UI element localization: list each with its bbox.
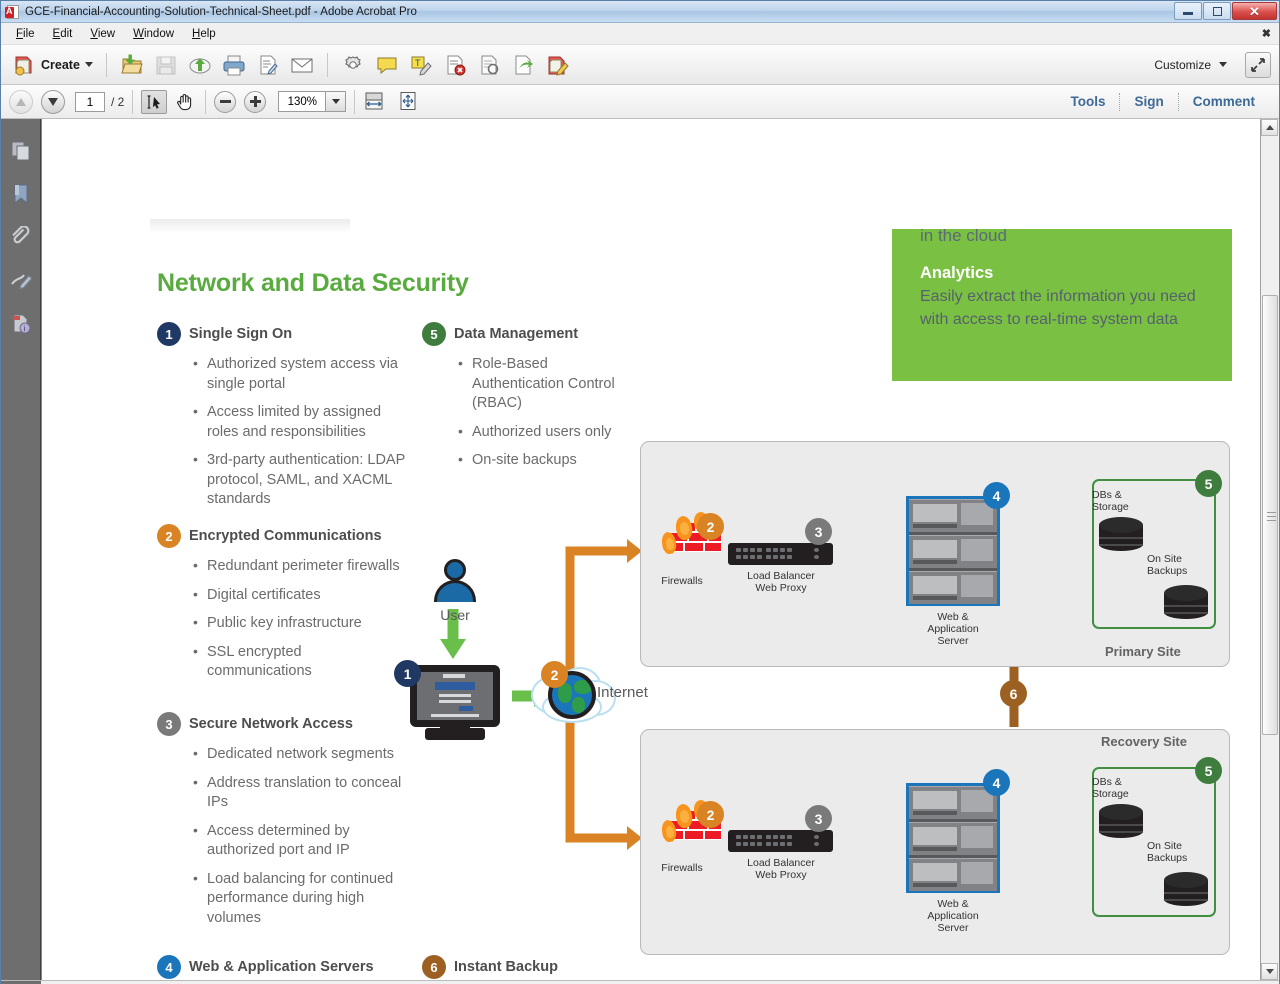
maximize-button[interactable] [1203,2,1231,20]
primary-site-panel [640,441,1230,667]
select-text-icon [145,93,163,111]
badge-loadbalancer-recovery: 3 [805,805,832,832]
list-item: Access determined by authorized port and… [193,822,407,861]
list-item: Authorized system access via single port… [193,355,407,394]
page-title: Network and Data Security [157,269,469,298]
list-item: Digital certificates [193,586,407,606]
clipped-text-row [150,219,350,233]
pdf-page: Network and Data Security 1 Single Sign … [42,119,1243,980]
bookmarks-icon [10,183,32,205]
previous-page-button[interactable] [9,90,33,114]
hand-tool-button[interactable] [171,90,197,114]
db-label-1: DBs & [1092,776,1122,788]
vertical-scrollbar[interactable] [1260,119,1279,980]
list-item: Address translation to conceal IPs [193,774,407,813]
analytics-callout: in the cloud Analytics Easily extract th… [892,229,1232,381]
workstation-monitor-icon [410,665,500,727]
recovery-site-label: Recovery Site [1101,734,1187,749]
create-button[interactable]: Create [7,50,98,80]
load-balancer-label-1: Load Balancer [747,857,815,869]
section-single-sign-on: 1 Single Sign On Authorized system acces… [157,322,407,519]
badge-loadbalancer-primary: 3 [805,518,832,545]
protect-document-button[interactable] [472,50,506,80]
toolbar-divider [106,53,107,77]
backup-label-1: On Site [1147,553,1182,565]
firewall-icon-primary [662,514,722,562]
section-secure-network-access: 3 Secure Network Access Dedicated networ… [157,712,407,937]
list-item: SSL encrypted communications [193,643,407,682]
rail-footer [1,981,41,984]
section-badge-2: 2 [157,524,181,548]
pdf-document-canvas[interactable]: Network and Data Security 1 Single Sign … [41,119,1260,980]
server-label-1: Web & [937,611,968,623]
acrobat-window: GCE-Financial-Accounting-Solution-Techni… [0,0,1280,984]
expand-arrows-icon [1250,57,1266,73]
minimize-button[interactable] [1174,2,1202,20]
cloud-shape [558,667,602,709]
backup-label-2: Backups [1147,565,1187,577]
fit-page-button[interactable] [397,90,421,114]
callout-body: Easily extract the information you need … [920,285,1204,331]
print-icon [222,53,246,77]
hand-tool-icon [175,92,194,111]
title-bar: GCE-Financial-Accounting-Solution-Techni… [1,1,1279,23]
workspace: i Network and Data Security 1 Single Sig… [1,119,1279,980]
menu-file[interactable]: File [7,26,44,42]
zoom-dropdown-button[interactable] [326,91,346,112]
backup-label-2: Backups [1147,852,1187,864]
zoom-out-button[interactable] [214,91,236,113]
firewalls-label-primary: Firewalls [647,575,717,587]
user-label: User [417,609,493,621]
list-item: 3rd-party authentication: LDAP protocol,… [193,451,407,510]
create-pdf-icon [12,53,36,77]
chevron-down-icon[interactable] [85,62,93,67]
page-number-input[interactable]: 1 [75,92,105,112]
menu-window[interactable]: Window [124,26,183,42]
comment-button[interactable] [370,50,404,80]
server-label-2: Application [927,910,978,922]
server-stack-primary [906,496,1000,606]
menu-help[interactable]: Help [183,26,225,42]
badge-server-primary: 4 [983,482,1010,509]
main-toolbar: Create [1,45,1279,85]
load-balancer-label-2: Web Proxy [755,869,806,881]
page-total-label: / 2 [111,95,124,109]
edit-pdf-icon [545,53,569,77]
fit-page-icon [397,90,419,112]
page-thumbnails-button[interactable] [1,129,41,172]
upload-cloud-button[interactable] [183,50,217,80]
signatures-icon [10,269,32,291]
toolbar-divider-2 [327,53,328,77]
sign-document-button[interactable] [251,50,285,80]
section-instant-backup: 6 Instant Backup Real-time data syncing … [422,955,637,980]
load-balancer-label-2: Web Proxy [755,582,806,594]
db-label-1: DBs & [1092,489,1122,501]
acrobat-app-icon [5,4,21,20]
open-file-icon [120,53,144,77]
server-stack-recovery [906,783,1000,893]
fit-width-button[interactable] [363,90,387,114]
section-title: Web & Application Servers [189,959,374,975]
attachments-button[interactable] [1,215,41,258]
comment-bubble-icon [375,53,399,77]
primary-db-group-box [1092,479,1216,629]
cloud-shape [531,675,579,715]
section-bullets: Redundant perimeter firewalls Digital ce… [193,557,407,682]
section-badge-4: 4 [157,955,181,979]
section-bullets: Authorized system access via single port… [193,355,407,510]
section-title: Encrypted Communications [189,528,382,544]
recovery-db-group-box [1092,767,1216,917]
close-button[interactable]: ✕ [1232,2,1277,20]
list-item: Authorized users only [458,423,622,443]
expand-toolbar-button[interactable] [1245,52,1271,78]
backup-label-1: On Site [1147,840,1182,852]
export-pdf-button[interactable] [506,50,540,80]
print-button[interactable] [217,50,251,80]
section-bullets: Dedicated network segments Address trans… [193,745,407,928]
server-label-3: Server [938,922,969,934]
zoom-in-button[interactable] [244,91,266,113]
db-label-2: Storage [1092,501,1129,513]
page-navigation-toolbar: 1 / 2 130% [1,85,1279,119]
load-balancer-icon-primary [728,543,833,565]
zoom-divider [205,90,206,114]
window-title: GCE-Financial-Accounting-Solution-Techni… [25,6,417,18]
window-controls: ✕ [1174,2,1277,20]
email-icon [290,53,314,77]
svg-text:T: T [415,58,421,68]
customize-menu[interactable]: Customize [1154,58,1227,72]
server-label-3: Server [938,635,969,647]
menu-view[interactable]: View [81,26,124,42]
customize-label: Customize [1154,58,1211,72]
nav-divider [132,90,133,114]
tools-link[interactable]: Tools [1056,94,1119,109]
globe-icon [548,671,596,719]
chevron-down-icon[interactable] [1219,62,1227,67]
highlight-text-button[interactable]: T [404,50,438,80]
next-page-button[interactable] [41,90,65,114]
menu-edit[interactable]: Edit [44,26,82,42]
recovery-site-panel [640,729,1230,955]
save-button[interactable] [149,50,183,80]
list-item: Load balancing for continued performance… [193,870,407,929]
callout-clipped-line: in the cloud [920,229,1204,246]
firewalls-label-recovery: Firewalls [647,862,717,874]
right-task-links: Tools Sign Comment [1056,93,1269,111]
export-pdf-icon [511,53,535,77]
list-item: Redundant perimeter firewalls [193,557,407,577]
cloud-shape [576,680,616,716]
section-title: Secure Network Access [189,716,353,732]
badge-internet: 2 [541,661,568,688]
badge-database-recovery: 5 [1195,757,1222,784]
settings-button[interactable] [336,50,370,80]
section-title: Instant Backup [454,959,558,975]
list-item: Role-Based Authentication Control (RBAC) [458,355,622,414]
signatures-button[interactable] [1,258,41,301]
callout-heading: Analytics [920,264,1204,283]
close-document-icon[interactable]: ✖ [1262,27,1271,40]
monitor-neck [440,725,470,733]
save-icon [154,53,178,77]
primary-site-label: Primary Site [1105,644,1181,659]
highlight-text-icon: T [409,53,433,77]
sign-link[interactable]: Sign [1120,94,1177,109]
fit-width-icon [363,90,385,112]
upload-cloud-icon [188,53,212,77]
badge-sync: 6 [1000,680,1027,707]
badge-server-recovery: 4 [983,769,1010,796]
open-file-button[interactable] [115,50,149,80]
section-title: Single Sign On [189,326,292,342]
section-badge-1: 1 [157,322,181,346]
section-badge-6: 6 [422,955,446,979]
load-balancer-label-1: Load Balancer [747,570,815,582]
fit-divider [354,90,355,114]
section-encrypted-communications: 2 Encrypted Communications Redundant per… [157,524,407,691]
gear-icon [341,53,365,77]
internet-label: Internet [597,687,687,699]
redact-button[interactable] [438,50,472,80]
zoom-level-input[interactable]: 130% [278,91,326,112]
db-label-2: Storage [1092,788,1129,800]
create-label: Create [41,58,80,72]
badge-firewall-primary: 2 [697,513,724,540]
menu-bar: File Edit View Window Help ✖ [1,23,1279,45]
redact-icon [443,53,467,77]
server-label-1: Web & [937,898,968,910]
monitor-base [425,728,485,740]
chevron-down-icon [332,99,340,104]
list-item: Dedicated network segments [193,745,407,765]
document-info-button[interactable]: i [1,301,41,344]
cloud-shape [542,691,602,723]
section-bullets: Role-Based Authentication Control (RBAC)… [458,355,622,471]
badge-database-primary: 5 [1195,470,1222,497]
firewall-icon-recovery [662,802,722,850]
scroll-down-button[interactable] [1261,963,1278,980]
sign-document-icon [256,53,280,77]
select-tool-button[interactable] [141,90,167,114]
scroll-up-button[interactable] [1261,119,1278,136]
attachments-icon [10,226,32,248]
list-item: Access limited by assigned roles and res… [193,403,407,442]
section-badge-5: 5 [422,322,446,346]
page-thumbnails-icon [10,140,32,162]
list-item: On-site backups [458,451,622,471]
section-data-management: 5 Data Management Role-Based Authenticat… [422,322,622,480]
email-button[interactable] [285,50,319,80]
scrollbar-thumb[interactable] [1262,295,1278,735]
edit-pdf-button[interactable] [540,50,574,80]
list-item: Public key infrastructure [193,614,407,634]
section-badge-3: 3 [157,712,181,736]
load-balancer-icon-recovery [728,830,833,852]
protect-document-icon [477,53,501,77]
navigation-pane-rail: i [1,119,41,980]
bookmarks-button[interactable] [1,172,41,215]
document-info-icon: i [10,312,32,334]
server-label-2: Application [927,623,978,635]
section-web-application-servers: 4 Web & Application Servers CIS benchmar… [157,955,417,980]
user-avatar-icon [432,559,478,605]
comment-link[interactable]: Comment [1179,94,1269,109]
badge-firewall-recovery: 2 [697,801,724,828]
status-strip [1,980,1279,984]
section-title: Data Management [454,326,578,342]
